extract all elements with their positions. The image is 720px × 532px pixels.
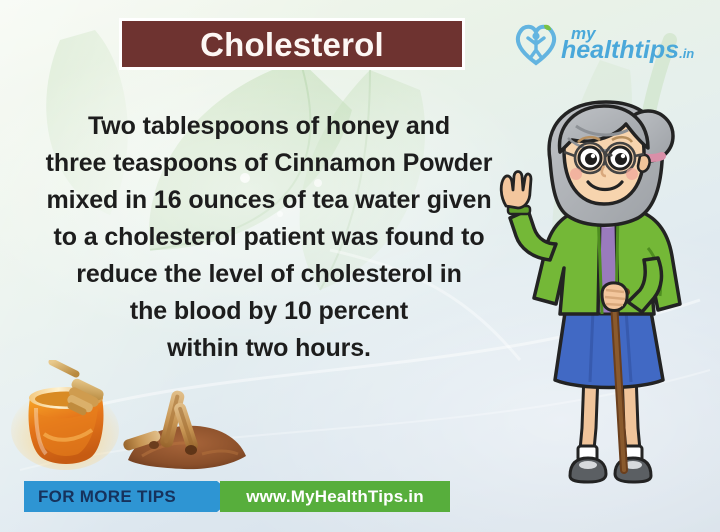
body-line: reduce the level of cholesterol in <box>18 256 520 293</box>
body-line: Two tablespoons of honey and <box>18 108 520 145</box>
honey-jar-image <box>8 360 120 470</box>
logo-main-text: healthtips.in <box>561 38 694 63</box>
body-line: the blood by 10 percent <box>18 293 520 330</box>
cta-label: FOR MORE TIPS <box>38 487 176 507</box>
brand-logo[interactable]: my healthtips.in <box>513 14 709 72</box>
website-url-banner[interactable]: www.MyHealthTips.in <box>220 481 450 512</box>
body-line: mixed in 16 ounces of tea water given <box>18 182 520 219</box>
body-line: three teaspoons of Cinnamon Powder <box>18 145 520 182</box>
for-more-tips-cta[interactable]: FOR MORE TIPS <box>24 481 236 512</box>
body-line: to a cholesterol patient was found to <box>18 219 520 256</box>
page-title: Cholesterol <box>200 28 384 61</box>
elderly-woman-illustration <box>498 98 720 490</box>
logo-healthtips-text: healthtips <box>561 36 679 64</box>
title-banner: Cholesterol <box>119 18 465 70</box>
heart-person-logo-icon <box>513 20 559 66</box>
infographic-poster: Cholesterol my healthtips.in Two tablesp… <box>0 0 720 532</box>
logo-tld-text: .in <box>679 46 694 61</box>
cinnamon-image <box>118 388 256 472</box>
website-url: www.MyHealthTips.in <box>246 487 424 507</box>
body-text: Two tablespoons of honey and three teasp… <box>18 108 520 367</box>
logo-wordmark: my healthtips.in <box>561 23 694 63</box>
footer-banner: FOR MORE TIPS www.MyHealthTips.in <box>24 481 450 512</box>
